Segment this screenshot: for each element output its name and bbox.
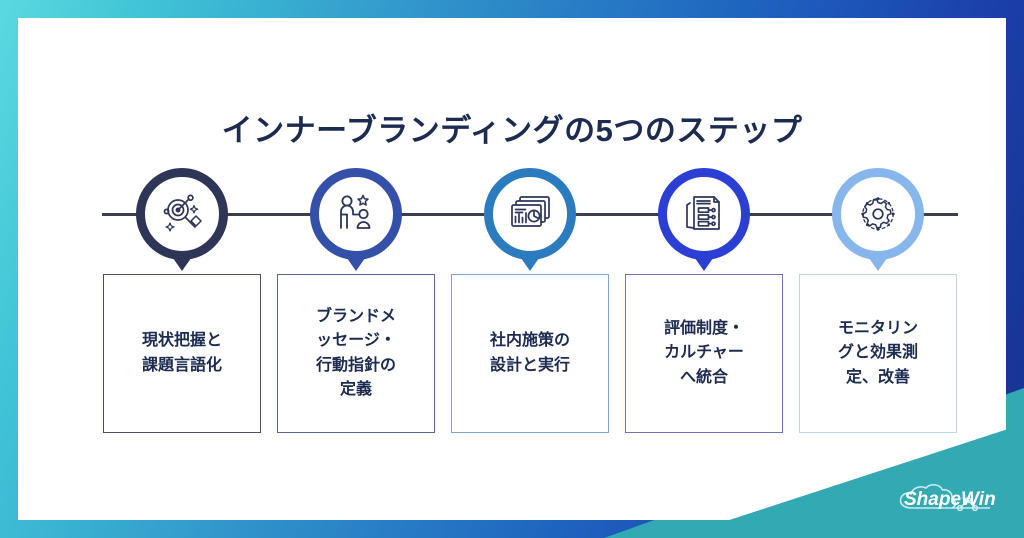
step-3-box: 社内施策の 設計と実行 <box>451 274 609 433</box>
people-star-icon <box>332 190 380 238</box>
gear-orbit-icon <box>854 190 902 238</box>
step-3-icon-badge[interactable] <box>484 168 576 260</box>
step-1-box: 現状把握と 課題言語化 <box>103 274 261 433</box>
step-3-label: 社内施策の 設計と実行 <box>484 329 576 378</box>
step-2-icon-badge[interactable] <box>310 168 402 260</box>
step-4-box: 評価制度・ カルチャー へ統合 <box>625 274 783 433</box>
step-5-box: モニタリン グと効果測 定、改善 <box>799 274 957 433</box>
step-4-label: 評価制度・ カルチャー へ統合 <box>658 317 750 390</box>
flowchart-documents-icon <box>680 190 728 238</box>
svg-text:ShapeWin: ShapeWin <box>904 489 996 510</box>
step-5-icon-badge[interactable] <box>832 168 924 260</box>
step-1-label: 現状把握と 課題言語化 <box>136 329 228 378</box>
infographic-canvas: インナーブランディングの5つのステップ <box>0 0 1024 538</box>
shapewin-logo[interactable]: ShapeWin <box>890 478 998 520</box>
step-2-label: ブランドメ ッセージ・ 行動指針の 定義 <box>310 305 402 402</box>
target-magnifier-icon <box>158 190 206 238</box>
report-charts-icon <box>506 190 554 238</box>
step-4-icon-badge[interactable] <box>658 168 750 260</box>
content-card: インナーブランディングの5つのステップ <box>18 18 1006 520</box>
step-1-icon-badge[interactable] <box>136 168 228 260</box>
page-title: インナーブランディングの5つのステップ <box>18 105 1006 150</box>
step-5-label: モニタリン グと効果測 定、改善 <box>832 317 924 390</box>
step-2-box: ブランドメ ッセージ・ 行動指針の 定義 <box>277 274 435 433</box>
cloud-network-icon: ShapeWin <box>890 478 998 520</box>
